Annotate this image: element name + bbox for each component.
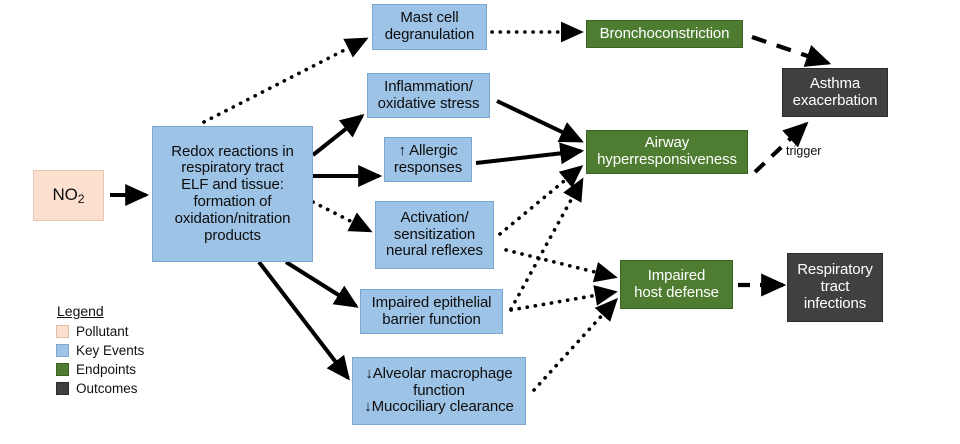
edge-activation-to-host-defense	[506, 250, 615, 277]
legend-swatch-pollutant-icon	[56, 325, 69, 338]
line: respiratory tract	[153, 160, 312, 177]
node-inflammation-oxidative-stress-label: Inflammation/ oxidative stress	[368, 79, 489, 113]
line: Respiratory	[788, 262, 882, 279]
line: oxidation/nitration	[153, 211, 312, 228]
legend-swatch-outcomes-icon	[56, 382, 69, 395]
edge-redox-to-inflammation	[313, 116, 362, 155]
node-mast-cell-degranulation-label: Mast cell degranulation	[373, 10, 486, 44]
node-asthma-exacerbation[interactable]: Asthma exacerbation	[782, 68, 888, 117]
legend-label-key-events: Key Events	[76, 343, 144, 358]
node-pollutant[interactable]: NO2	[33, 170, 104, 221]
node-bronchoconstriction[interactable]: Bronchoconstriction	[586, 20, 743, 48]
line: oxidative stress	[368, 96, 489, 113]
node-activation-sensitization-neural-reflexes[interactable]: Activation/ sensitization neural reflexe…	[375, 201, 494, 269]
line: responses	[385, 160, 471, 177]
line: degranulation	[373, 27, 486, 44]
legend: Legend Pollutant Key Events Endpoints Ou…	[56, 303, 144, 398]
edge-bronchoconstriction-to-asthma	[752, 37, 828, 63]
edge-allergic-to-airway	[476, 151, 581, 163]
node-airway-hyperresponsiveness[interactable]: Airway hyperresponsiveness	[586, 130, 748, 174]
edge-epithelial-to-host-defense	[511, 292, 615, 310]
legend-item-key-events: Key Events	[56, 341, 144, 359]
line: hyperresponsiveness	[587, 152, 747, 169]
legend-swatch-endpoints-icon	[56, 363, 69, 376]
line: Airway	[587, 135, 747, 152]
node-activation-sensitization-neural-reflexes-label: Activation/ sensitization neural reflexe…	[376, 210, 493, 260]
line: formation of	[153, 194, 312, 211]
edge-activation-to-airway	[500, 167, 581, 234]
edge-redox-to-mast-cell	[204, 39, 366, 122]
node-mast-cell-degranulation[interactable]: Mast cell degranulation	[372, 4, 487, 50]
line: ↓Alveolar macrophage	[353, 366, 525, 383]
legend-item-outcomes: Outcomes	[56, 379, 144, 397]
edge-inflammation-to-airway	[497, 101, 581, 141]
node-impaired-epithelial-barrier-function[interactable]: Impaired epithelial barrier function	[360, 289, 503, 334]
node-alveolar-macrophage-mucociliary-label: ↓Alveolar macrophage function ↓Mucocilia…	[353, 366, 525, 416]
line: Impaired	[621, 268, 732, 285]
node-inflammation-oxidative-stress[interactable]: Inflammation/ oxidative stress	[367, 73, 490, 118]
line: Impaired epithelial	[361, 295, 502, 312]
line: exacerbation	[783, 93, 887, 110]
node-respiratory-tract-infections[interactable]: Respiratory tract infections	[787, 253, 883, 322]
line: Activation/	[376, 210, 493, 227]
line: Mast cell	[373, 10, 486, 27]
line: products	[153, 228, 312, 245]
node-impaired-host-defense[interactable]: Impaired host defense	[620, 260, 733, 309]
node-impaired-host-defense-label: Impaired host defense	[621, 268, 732, 302]
edge-epithelial-to-airway	[511, 180, 582, 309]
legend-title: Legend	[56, 303, 144, 319]
line: host defense	[621, 285, 732, 302]
edge-redox-to-activation	[313, 202, 370, 231]
node-airway-hyperresponsiveness-label: Airway hyperresponsiveness	[587, 135, 747, 169]
line: ELF and tissue:	[153, 177, 312, 194]
node-allergic-responses-label: ↑ Allergic responses	[385, 143, 471, 177]
line: Inflammation/	[368, 79, 489, 96]
node-pollutant-label: NO2	[34, 185, 103, 207]
legend-label-endpoints: Endpoints	[76, 362, 136, 377]
line: ↑ Allergic	[385, 143, 471, 160]
node-redox-reactions[interactable]: Redox reactions in respiratory tract ELF…	[152, 126, 313, 262]
node-bronchoconstriction-label: Bronchoconstriction	[587, 26, 742, 43]
line: neural reflexes	[376, 243, 493, 260]
line: barrier function	[361, 312, 502, 329]
line: tract	[788, 279, 882, 296]
edge-macrophage-to-host-defense	[534, 300, 616, 390]
diagram-canvas: NO2 Redox reactions in respiratory tract…	[0, 0, 960, 444]
line: function	[353, 383, 525, 400]
edge-redox-to-macrophage	[259, 262, 348, 378]
legend-item-endpoints: Endpoints	[56, 360, 144, 378]
line: Redox reactions in	[153, 144, 312, 161]
node-asthma-exacerbation-label: Asthma exacerbation	[783, 76, 887, 110]
node-alveolar-macrophage-mucociliary[interactable]: ↓Alveolar macrophage function ↓Mucocilia…	[352, 357, 526, 425]
node-impaired-epithelial-barrier-function-label: Impaired epithelial barrier function	[361, 295, 502, 329]
legend-label-pollutant: Pollutant	[76, 324, 129, 339]
legend-swatch-key-events-icon	[56, 344, 69, 357]
line: ↓Mucociliary clearance	[353, 399, 525, 416]
legend-item-pollutant: Pollutant	[56, 322, 144, 340]
line: Bronchoconstriction	[587, 26, 742, 43]
line: sensitization	[376, 227, 493, 244]
node-respiratory-tract-infections-label: Respiratory tract infections	[788, 262, 882, 312]
line: Asthma	[783, 76, 887, 93]
line: infections	[788, 296, 882, 313]
legend-label-outcomes: Outcomes	[76, 381, 138, 396]
edge-redox-to-epithelial	[286, 262, 356, 306]
node-allergic-responses[interactable]: ↑ Allergic responses	[384, 137, 472, 182]
edge-label-trigger: trigger	[786, 144, 821, 158]
node-redox-reactions-label: Redox reactions in respiratory tract ELF…	[153, 144, 312, 245]
